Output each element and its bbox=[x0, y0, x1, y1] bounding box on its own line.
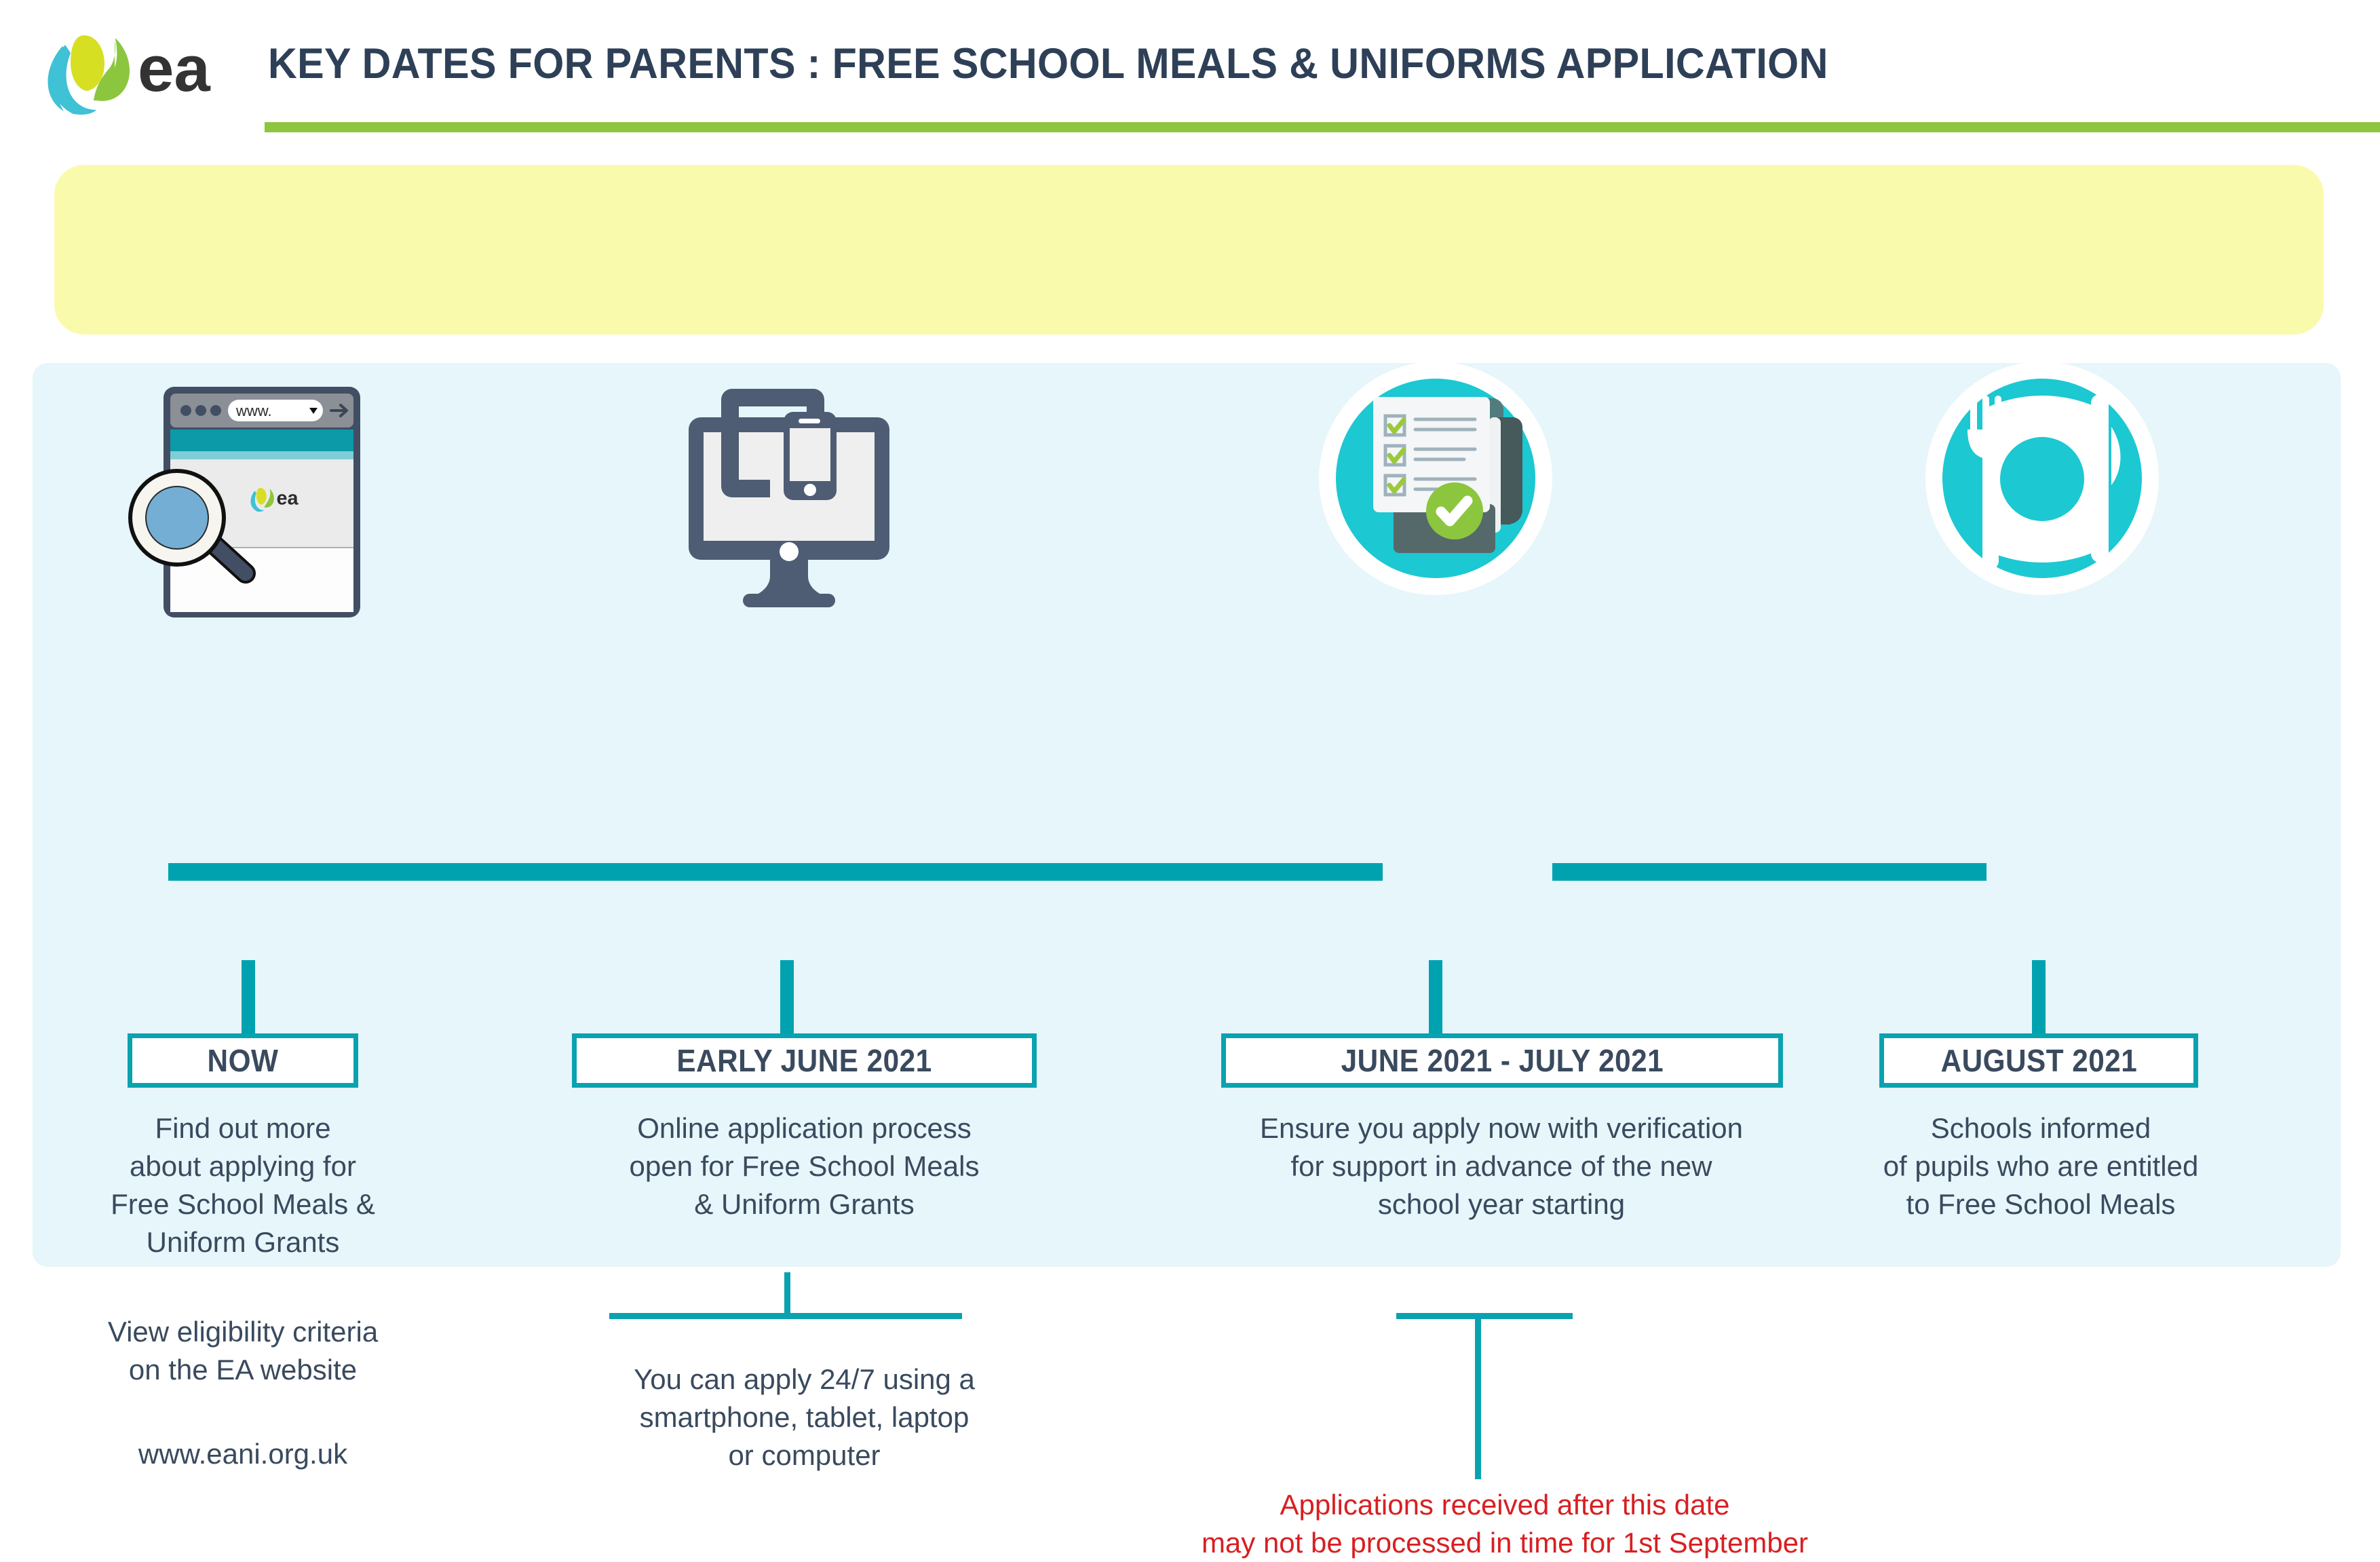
step-subnote-early-june: You can apply 24/7 using a smartphone, t… bbox=[548, 1360, 1060, 1474]
stem-1 bbox=[242, 960, 255, 1033]
date-label-june-july: JUNE 2021 - JULY 2021 bbox=[1341, 1042, 1663, 1079]
page-title: KEY DATES FOR PARENTS : FREE SCHOOL MEAL… bbox=[268, 39, 1828, 88]
date-box-june-july: JUNE 2021 - JULY 2021 bbox=[1221, 1033, 1783, 1088]
browser-search-icon: www. ea bbox=[113, 370, 398, 628]
step-warning-june-july: Applications received after this date ma… bbox=[996, 1486, 2014, 1562]
browser-page-logo: ea bbox=[277, 488, 299, 510]
meal-plate-icon bbox=[1920, 356, 2164, 601]
date-label-august: AUGUST 2021 bbox=[1940, 1042, 2137, 1079]
t-connector-stem-3 bbox=[1475, 1313, 1481, 1479]
checklist-approved-icon bbox=[1313, 356, 1558, 601]
note-box-text bbox=[54, 165, 2324, 206]
step-body-early-june: Online application process open for Free… bbox=[548, 1109, 1060, 1223]
date-label-early-june: EARLY JUNE 2021 bbox=[676, 1042, 932, 1079]
timeline-connector-1 bbox=[168, 863, 786, 881]
timeline-connector-2 bbox=[786, 863, 1383, 881]
step-body-august: Schools informed of pupils who are entit… bbox=[1830, 1109, 2251, 1223]
browser-url-text: www. bbox=[235, 402, 272, 419]
ea-logo: ea bbox=[26, 15, 229, 117]
t-connector-rule-3 bbox=[1396, 1313, 1573, 1319]
logo-wordmark: ea bbox=[138, 33, 210, 105]
stem-3 bbox=[1429, 960, 1442, 1033]
date-box-august: AUGUST 2021 bbox=[1879, 1033, 2198, 1088]
ea-website-link[interactable]: www.eani.org.uk bbox=[46, 1435, 440, 1473]
stem-4 bbox=[2032, 960, 2046, 1033]
step-body-now: Find out more about applying for Free Sc… bbox=[46, 1109, 440, 1261]
page-header: ea KEY DATES FOR PARENTS : FREE SCHOOL M… bbox=[0, 0, 2380, 142]
step-body-june-july: Ensure you apply now with verification f… bbox=[1149, 1109, 1854, 1223]
t-connector-rule-2 bbox=[609, 1313, 962, 1319]
title-underline-rule bbox=[265, 122, 2380, 132]
note-box bbox=[54, 165, 2324, 335]
timeline-panel: www. ea bbox=[33, 363, 2341, 1267]
date-label-now: NOW bbox=[208, 1042, 279, 1079]
timeline-connector-3 bbox=[1552, 863, 1986, 881]
stem-2 bbox=[780, 960, 794, 1033]
t-connector-stem-2 bbox=[784, 1272, 790, 1317]
date-box-now: NOW bbox=[128, 1033, 358, 1088]
step-eligibility-now: View eligibility criteria on the EA webs… bbox=[46, 1313, 440, 1389]
devices-icon bbox=[680, 383, 898, 607]
date-box-early-june: EARLY JUNE 2021 bbox=[572, 1033, 1037, 1088]
